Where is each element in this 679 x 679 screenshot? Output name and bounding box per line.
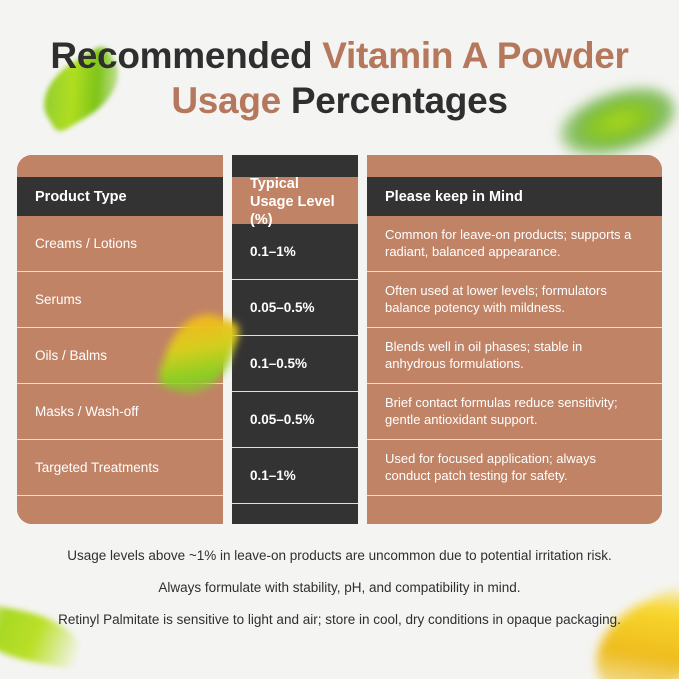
table-row: 0.1–1% bbox=[232, 448, 358, 504]
footnote-item: Usage levels above ~1% in leave-on produ… bbox=[27, 546, 652, 565]
table-row: Common for leave-on products; supports a… bbox=[367, 216, 662, 272]
footnote-item: Retinyl Palmitate is sensitive to light … bbox=[27, 610, 652, 629]
usage-table: Product Type Creams / Lotions Serums Oil… bbox=[17, 155, 662, 524]
table-row: Brief contact formulas reduce sensitivit… bbox=[367, 384, 662, 440]
title-line-1: Recommended Vitamin A Powder bbox=[0, 33, 679, 78]
table-row: 0.1–1% bbox=[232, 224, 358, 280]
table-row: 0.1–0.5% bbox=[232, 336, 358, 392]
table-row: Used for focused application; always con… bbox=[367, 440, 662, 496]
table-row: Serums bbox=[17, 272, 223, 328]
column-product-type-bottom-cap bbox=[17, 496, 223, 524]
column-usage-level: Typical Usage Level (%) 0.1–1% 0.05–0.5%… bbox=[232, 155, 358, 524]
table-row: 0.05–0.5% bbox=[232, 280, 358, 336]
title-line-2: Usage Percentages bbox=[0, 78, 679, 123]
footnote-item: Always formulate with stability, pH, and… bbox=[27, 578, 652, 597]
column-keep-in-mind-top-cap bbox=[367, 155, 662, 177]
column-keep-in-mind: Please keep in Mind Common for leave-on … bbox=[367, 155, 662, 524]
title-line-2-accent: Usage bbox=[171, 80, 281, 121]
header-usage-level: Typical Usage Level (%) bbox=[232, 177, 358, 224]
page-title: Recommended Vitamin A Powder Usage Perce… bbox=[0, 0, 679, 123]
table-row: 0.05–0.5% bbox=[232, 392, 358, 448]
header-product-type: Product Type bbox=[17, 177, 223, 216]
title-line-1-accent: Vitamin A Powder bbox=[322, 35, 628, 76]
table-row: Blends well in oil phases; stable in anh… bbox=[367, 328, 662, 384]
title-line-2-plain: Percentages bbox=[281, 80, 508, 121]
table-row: Targeted Treatments bbox=[17, 440, 223, 496]
column-usage-level-bottom-cap bbox=[232, 504, 358, 524]
column-product-type-top-cap bbox=[17, 155, 223, 177]
column-product-type: Product Type Creams / Lotions Serums Oil… bbox=[17, 155, 223, 524]
table-row: Masks / Wash-off bbox=[17, 384, 223, 440]
table-row: Often used at lower levels; formulators … bbox=[367, 272, 662, 328]
table-row: Creams / Lotions bbox=[17, 216, 223, 272]
table-row: Oils / Balms bbox=[17, 328, 223, 384]
column-keep-in-mind-bottom-cap bbox=[367, 496, 662, 524]
header-keep-in-mind: Please keep in Mind bbox=[367, 177, 662, 216]
footnotes: Usage levels above ~1% in leave-on produ… bbox=[27, 546, 652, 629]
title-line-1-plain: Recommended bbox=[50, 35, 322, 76]
